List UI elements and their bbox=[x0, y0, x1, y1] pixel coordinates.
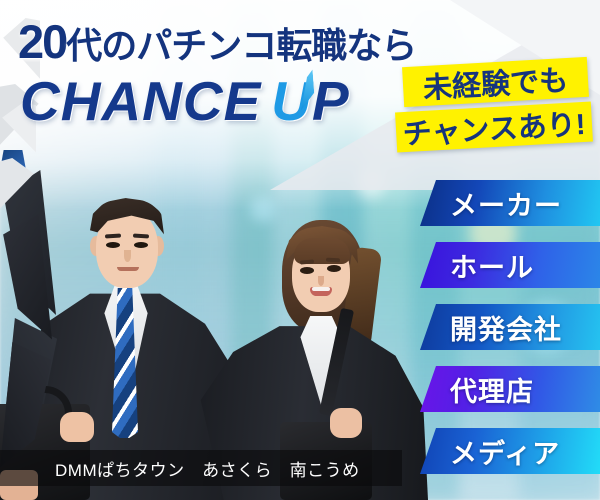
category-button-developer[interactable]: 開発会社 bbox=[420, 304, 600, 350]
headline-tail: なら bbox=[346, 25, 416, 66]
category-label-maker: メーカー bbox=[450, 184, 562, 223]
woman-hand bbox=[330, 408, 362, 438]
category-label-agency: 代理店 bbox=[450, 370, 534, 409]
woman-eye-right bbox=[327, 265, 341, 272]
badge-no-experience-label: 未経験でも bbox=[422, 57, 569, 107]
man-eye-left bbox=[106, 242, 120, 248]
person-woman bbox=[0, 102, 56, 500]
logo-chance-text: CHANCE bbox=[20, 70, 261, 132]
category-button-agency[interactable]: 代理店 bbox=[420, 366, 600, 412]
brand-logo: CHANCEUP bbox=[20, 74, 350, 129]
category-label-hall: ホール bbox=[450, 246, 534, 285]
headline: 20代のパチンコ転職なら bbox=[18, 18, 416, 65]
credit-text: DMMぱちタウン あさくら 南こうめ bbox=[55, 456, 360, 481]
headline-number: 20 bbox=[18, 15, 66, 68]
woman-collar-right bbox=[0, 158, 36, 214]
category-button-hall[interactable]: ホール bbox=[420, 242, 600, 288]
woman-eye-left bbox=[300, 267, 314, 274]
woman-lapel-left bbox=[0, 214, 52, 342]
woman-nose bbox=[318, 276, 324, 286]
man-hand bbox=[60, 412, 94, 442]
category-button-media[interactable]: メディア bbox=[420, 428, 600, 474]
credit-bar: DMMぱちタウン あさくら 南こうめ bbox=[0, 450, 402, 486]
man-nose bbox=[124, 250, 131, 262]
man-eye-right bbox=[134, 242, 148, 248]
category-label-media: メディア bbox=[450, 432, 560, 471]
logo-p-letter: P bbox=[312, 70, 350, 132]
woman-eyebrow-right bbox=[326, 258, 340, 263]
category-button-maker[interactable]: メーカー bbox=[420, 180, 600, 226]
headline-middle: 代のパチンコ転職 bbox=[66, 25, 346, 66]
chance-up-banner: 20代のパチンコ転職なら CHANCEUP 未経験でも チャンスあり! メーカー… bbox=[0, 0, 600, 500]
category-label-developer: 開発会社 bbox=[450, 308, 562, 347]
woman-teeth bbox=[312, 287, 330, 291]
category-button-list: メーカー ホール 開発会社 代理店 メディア bbox=[420, 180, 600, 490]
man-mouth bbox=[117, 267, 139, 271]
logo-u-accent: U bbox=[271, 74, 312, 129]
people-photo bbox=[0, 140, 430, 500]
